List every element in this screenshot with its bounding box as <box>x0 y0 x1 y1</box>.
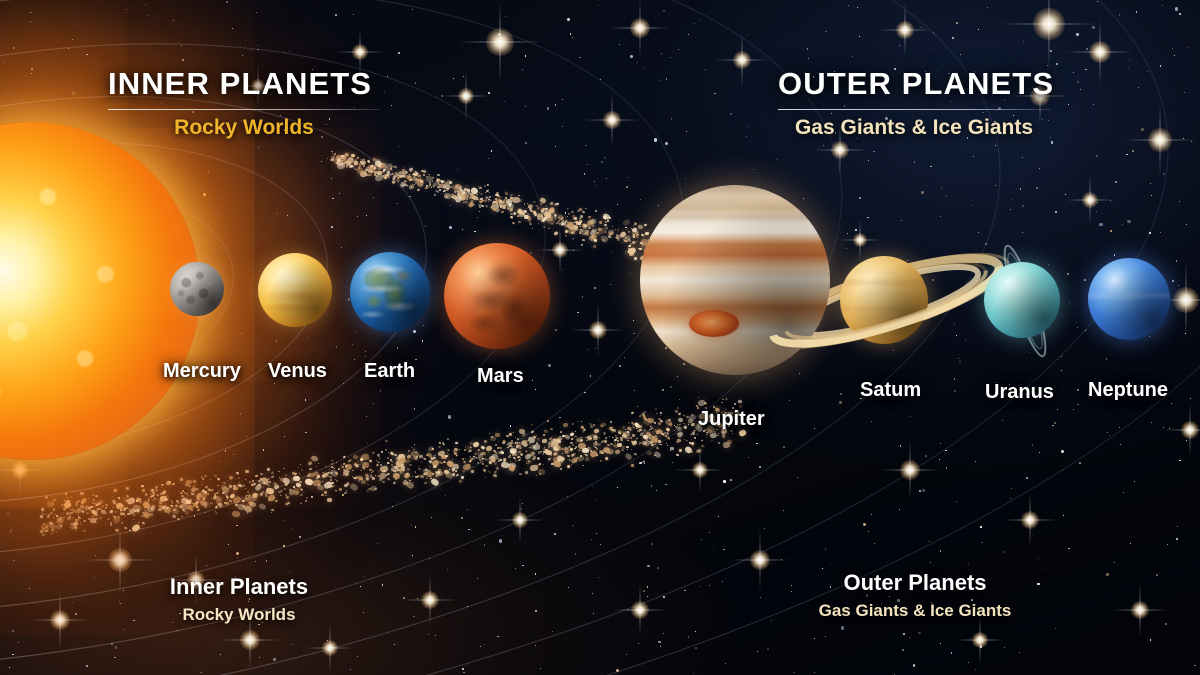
outer-caption-title: Outer Planets <box>768 570 1062 596</box>
inner-heading-divider <box>108 109 380 110</box>
label-uranus: Uranus <box>985 381 1054 404</box>
uranus-shading <box>984 262 1060 338</box>
label-neptune: Neptune <box>1088 379 1168 402</box>
inner-planets-subtitle: Rocky Worlds <box>108 116 380 140</box>
inner-planets-heading: INNER PLANETS Rocky Worlds <box>108 66 380 140</box>
label-venus: Venus <box>268 360 327 383</box>
outer-heading-divider <box>778 109 1050 110</box>
planet-earth <box>350 252 430 332</box>
outer-planets-subtitle: Gas Giants & Ice Giants <box>778 116 1050 140</box>
planet-mars <box>444 243 550 349</box>
outer-planets-title: OUTER PLANETS <box>778 66 1050 102</box>
inner-caption-title: Inner Planets <box>108 574 370 600</box>
outer-planets-caption: Outer Planets Gas Giants & Ice Giants <box>768 570 1062 621</box>
inner-planets-title: INNER PLANETS <box>108 66 380 102</box>
solar-system-infographic: INNER PLANETS Rocky Worlds OUTER PLANETS… <box>0 0 1200 675</box>
planet-mercury <box>170 262 224 316</box>
label-mercury: Mercury <box>163 360 241 383</box>
outer-planets-heading: OUTER PLANETS Gas Giants & Ice Giants <box>778 66 1050 140</box>
venus-shading <box>258 253 332 327</box>
mercury-shading <box>170 262 224 316</box>
outer-caption-subtitle: Gas Giants & Ice Giants <box>768 601 1062 621</box>
saturn-shading <box>840 256 928 344</box>
label-mars: Mars <box>477 365 524 388</box>
earth-shading <box>350 252 430 332</box>
jupiter-shading <box>640 185 830 375</box>
label-earth: Earth <box>364 360 415 383</box>
neptune-shading <box>1088 258 1170 340</box>
mars-shading <box>444 243 550 349</box>
planet-uranus <box>984 262 1060 338</box>
label-saturn: Satum <box>860 379 921 402</box>
planet-jupiter <box>640 185 830 375</box>
planet-venus <box>258 253 332 327</box>
inner-caption-subtitle: Rocky Worlds <box>108 605 370 625</box>
asteroid-belt-lower <box>40 398 740 558</box>
planet-saturn <box>840 256 928 344</box>
inner-planets-caption: Inner Planets Rocky Worlds <box>108 574 370 625</box>
label-jupiter: Jupiter <box>698 408 765 431</box>
planet-neptune <box>1088 258 1170 340</box>
